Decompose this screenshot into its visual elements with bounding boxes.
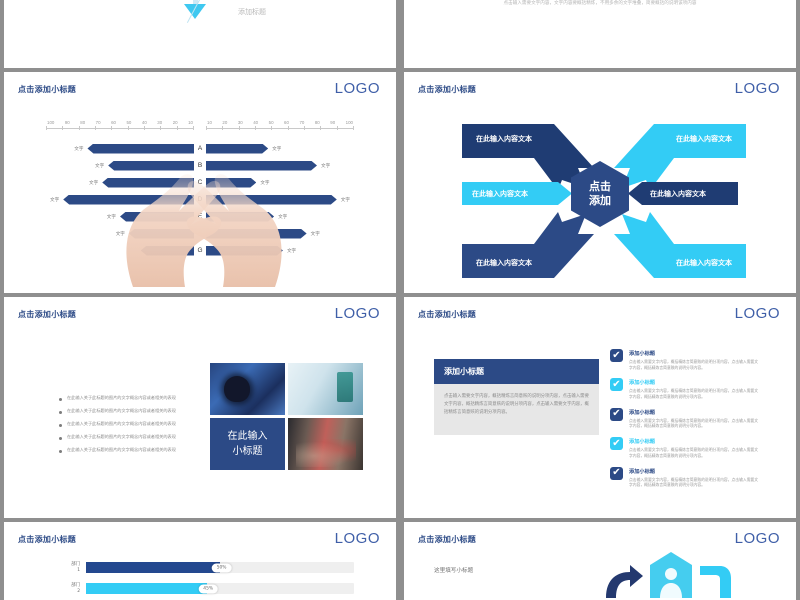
category-label: C	[194, 179, 206, 186]
axis-tick: 20	[222, 120, 227, 125]
checklist-item[interactable]: ✔添加小标题点击输入需要文字内容，概括精炼言简意赅的说明分项内容，点击输入需要文…	[610, 408, 760, 429]
axis-tick: 40	[142, 120, 147, 125]
hexagon-diagram: 在此输入内容文本 在此输入内容文本 在此输入内容文本 在此输入内容文本	[404, 104, 796, 284]
check-icon[interactable]: ✔	[610, 408, 623, 421]
chart-row: 文字F文字	[4, 225, 396, 242]
arrow-bottom-right[interactable]: 在此输入内容文本	[611, 212, 746, 278]
arrow-label: 在此输入内容文本	[476, 134, 532, 144]
bar-label: 文字	[256, 180, 273, 186]
check-icon[interactable]: ✔	[610, 467, 623, 480]
axis-right-ticks: 102030405060708090100	[206, 120, 354, 125]
chart-row: 文字A文字	[4, 140, 396, 157]
bar-left[interactable]	[108, 161, 194, 171]
checklist-item-body: 点击输入需要文字内容，概括精炼言简意赅的说明分项内容，点击输入需要文字内容，概括…	[629, 388, 760, 399]
checklist-item-body: 点击输入需要文字内容，概括精炼言简意赅的说明分项内容，点击输入需要文字内容，概括…	[629, 477, 760, 488]
tornado-chart: 100908070605040302010 102030405060708090…	[4, 112, 396, 282]
page-title: 点击添加小标题	[18, 309, 76, 320]
bar-label: 文字	[274, 214, 291, 220]
category-label: A	[194, 145, 206, 152]
chart-row-right: 文字	[206, 178, 354, 188]
checklist-item-heading: 添加小标题	[629, 350, 760, 357]
list-item: 在此输入关于此标题的图片的文字概念内容或者相关的表现	[59, 421, 199, 427]
crowd-photo[interactable]	[288, 418, 363, 470]
bar-label: 文字	[70, 146, 87, 152]
logo: LOGO	[735, 530, 780, 547]
axis-tick: 60	[111, 120, 116, 125]
axis-tick: 30	[157, 120, 162, 125]
bar-label: 文字	[46, 197, 63, 203]
chart-row-right: 文字	[206, 212, 354, 222]
checklist-item-heading: 添加小标题	[629, 409, 760, 416]
chart-row-right: 文字	[206, 246, 354, 256]
checklist: ✔添加小标题点击输入需要文字内容，概括精炼言简意赅的说明分项内容，点击输入需要文…	[610, 349, 760, 496]
bar-right[interactable]	[206, 229, 307, 239]
bar-left[interactable]	[63, 195, 194, 205]
icon-row	[604, 552, 732, 598]
list-item: 在此输入关于此标题的图片的文字概念内容或者相关的表现	[59, 434, 199, 440]
checklist-item[interactable]: ✔添加小标题点击输入需要文字内容，概括精炼言简意赅的说明分项内容，点击输入需要文…	[610, 378, 760, 399]
chart-row-right: 文字	[206, 195, 354, 205]
arrow-label: 在此输入内容文本	[650, 189, 706, 199]
list-item-text: 在此输入关于此标题的图片的文字概念内容或者相关的表现	[67, 421, 176, 426]
list-item: 在此输入关于此标题的图片的文字概念内容或者相关的表现	[59, 395, 199, 401]
chart-row-left	[46, 246, 194, 256]
bullet-dot-icon	[59, 411, 62, 414]
photo-grid: 在此输入 小标题	[210, 363, 360, 473]
axis-tick: 100	[47, 120, 54, 125]
checklist-item-content: 添加小标题点击输入需要文字内容，概括精炼言简意赅的说明分项内容，点击输入需要文字…	[629, 437, 760, 458]
bar-right[interactable]	[206, 178, 256, 188]
logo: LOGO	[735, 80, 780, 97]
corner-arrow-icon[interactable]	[698, 564, 732, 598]
chart-row-right: 文字	[206, 144, 354, 154]
bar-left[interactable]	[129, 229, 194, 239]
page-title: 点击添加小标题	[418, 534, 476, 545]
progress-track[interactable]: 45%	[86, 583, 354, 594]
slide-subtitle: 添加标题	[238, 7, 266, 17]
chart-row-left: 文字	[46, 144, 194, 154]
bar-left[interactable]	[141, 246, 194, 256]
checklist-item-heading: 添加小标题	[629, 379, 760, 386]
check-icon[interactable]: ✔	[610, 378, 623, 391]
category-label: G	[194, 247, 206, 254]
axis-tick: 90	[330, 120, 335, 125]
bar-left[interactable]	[87, 144, 194, 154]
caption-line-1: 在此输入	[228, 429, 268, 444]
caption-tile[interactable]: 在此输入 小标题	[210, 418, 285, 470]
slide-paragraph: 点击输入需要文字内容，文字内容要概括精炼，不用多余的文字堆叠，简要概括的说明该项…	[450, 0, 750, 8]
bar-right[interactable]	[206, 161, 317, 171]
axis-tick: 100	[346, 120, 353, 125]
hexagon-line-2: 添加	[589, 194, 611, 208]
axis-left: 100908070605040302010	[46, 120, 194, 129]
chart-row: G文字	[4, 242, 396, 259]
arrow-middle-left[interactable]: 在此输入内容文本	[462, 182, 572, 205]
checklist-item-content: 添加小标题点击输入需要文字内容，概括精炼言简意赅的说明分项内容，点击输入需要文字…	[629, 408, 760, 429]
progress-bar-group: 部门150%部门245%	[64, 562, 354, 600]
slide-top-left-partial[interactable]: 添加标题	[4, 0, 396, 68]
checklist-item-body: 点击输入需要文字内容，概括精炼言简意赅的说明分项内容，点击输入需要文字内容，概括…	[629, 447, 760, 458]
list-item-text: 在此输入关于此标题的图片的文字概念内容或者相关的表现	[67, 395, 176, 400]
axis-tick: 70	[299, 120, 304, 125]
bar-label: 文字	[91, 163, 108, 169]
axis-tick: 20	[173, 120, 178, 125]
bar-left[interactable]	[120, 212, 194, 222]
arrow-label: 在此输入内容文本	[472, 189, 528, 199]
axis-tick: 10	[188, 120, 193, 125]
curved-arrow-icon[interactable]	[604, 564, 644, 598]
progress-value-badge: 50%	[212, 563, 232, 572]
axis-tick: 50	[269, 120, 274, 125]
checklist-item-heading: 添加小标题	[629, 438, 760, 445]
bar-right[interactable]	[206, 212, 274, 222]
checklist-item[interactable]: ✔添加小标题点击输入需要文字内容，概括精炼言简意赅的说明分项内容，点击输入需要文…	[610, 437, 760, 458]
bar-label: 文字	[317, 163, 334, 169]
slide-photo-grid[interactable]: 点击添加小标题 LOGO 在此输入关于此标题的图片的文字概念内容或者相关的表现在…	[4, 297, 396, 518]
chart-row-left: 文字	[46, 229, 194, 239]
logo: LOGO	[335, 80, 380, 97]
axis-tick: 30	[238, 120, 243, 125]
chart-row: 文字C文字	[4, 174, 396, 191]
category-label: F	[194, 230, 206, 237]
checklist-item-body: 点击输入需要文字内容，概括精炼言简意赅的说明分项内容，点击输入需要文字内容，概括…	[629, 359, 760, 370]
chart-row: 文字E文字	[4, 208, 396, 225]
bar-label: 文字	[268, 146, 285, 152]
arrow-bottom-left[interactable]: 在此输入内容文本	[462, 212, 597, 278]
bar-label: 文字	[283, 248, 300, 254]
category-label: E	[194, 213, 206, 220]
arrow-label: 在此输入内容文本	[676, 134, 732, 144]
list-item: 在此输入关于此标题的图片的文字概念内容或者相关的表现	[59, 408, 199, 414]
chart-row-left: 文字	[46, 212, 194, 222]
page-title: 点击添加小标题	[418, 84, 476, 95]
caption-line-2: 小标题	[228, 444, 268, 459]
arrow-top-right[interactable]: 在此输入内容文本	[611, 124, 746, 190]
checklist-item-content: 添加小标题点击输入需要文字内容，概括精炼言简意赅的说明分项内容，点击输入需要文字…	[629, 467, 760, 488]
hexagon-line-1: 点击	[589, 180, 611, 194]
axis-tick: 50	[126, 120, 131, 125]
progress-track[interactable]: 50%	[86, 562, 354, 573]
bar-right[interactable]	[206, 195, 337, 205]
chart-row-right: 文字	[206, 161, 354, 171]
slide-hexagon-diagram[interactable]: 点击添加小标题 LOGO 在此输入内容文本 在此输入内容文本 在此输入内容文本	[404, 72, 796, 293]
list-item-text: 在此输入关于此标题的图片的文字概念内容或者相关的表现	[67, 408, 176, 413]
bullet-dot-icon	[59, 424, 62, 427]
checklist-item-content: 添加小标题点击输入需要文字内容，概括精炼言简意赅的说明分项内容，点击输入需要文字…	[629, 378, 760, 399]
bar-right[interactable]	[206, 144, 268, 154]
microphone-photo[interactable]	[210, 363, 285, 415]
slide-icon-row[interactable]: 点击添加小标题 LOGO 这里填写小标题	[404, 522, 796, 600]
bullet-dot-icon	[59, 398, 62, 401]
chart-row: 文字B文字	[4, 157, 396, 174]
progress-row: 部门245%	[64, 583, 354, 594]
bar-left[interactable]	[102, 178, 194, 188]
checklist-item[interactable]: ✔添加小标题点击输入需要文字内容，概括精炼言简意赅的说明分项内容，点击输入需要文…	[610, 467, 760, 488]
list-item: 在此输入关于此标题的图片的文字概念内容或者相关的表现	[59, 447, 199, 453]
axis-left-line	[46, 128, 194, 129]
bar-right[interactable]	[206, 246, 283, 256]
axis-tick: 60	[284, 120, 289, 125]
category-label: D	[194, 196, 206, 203]
axis-tick: 90	[65, 120, 70, 125]
list-item-text: 在此输入关于此标题的图片的文字概念内容或者相关的表现	[67, 434, 176, 439]
bar-label: 文字	[103, 214, 120, 220]
list-item-text: 在此输入关于此标题的图片的文字概念内容或者相关的表现	[67, 447, 176, 452]
checklist-item-heading: 添加小标题	[629, 468, 760, 475]
page-title: 点击添加小标题	[18, 84, 76, 95]
person-shield-icon[interactable]	[650, 552, 692, 598]
checklist-item-content: 添加小标题点击输入需要文字内容，概括精炼言简意赅的说明分项内容，点击输入需要文字…	[629, 349, 760, 370]
logo: LOGO	[335, 530, 380, 547]
chart-row: 文字D文字	[4, 191, 396, 208]
checklist-item-body: 点击输入需要文字内容，概括精炼言简意赅的说明分项内容，点击输入需要文字内容，概括…	[629, 418, 760, 429]
checklist-item[interactable]: ✔添加小标题点击输入需要文字内容，概括精炼言简意赅的说明分项内容，点击输入需要文…	[610, 349, 760, 370]
axis-right-line	[206, 128, 354, 129]
logo: LOGO	[735, 305, 780, 322]
progress-row: 部门150%	[64, 562, 354, 573]
progress-label: 部门1	[64, 562, 80, 573]
axis-tick: 10	[207, 120, 212, 125]
arrow-middle-right[interactable]: 在此输入内容文本	[628, 182, 738, 205]
check-icon[interactable]: ✔	[610, 349, 623, 362]
bar-label: 文字	[337, 197, 354, 203]
bar-label: 文字	[112, 231, 129, 237]
progress-label: 部门2	[64, 583, 80, 594]
progress-value-badge: 45%	[198, 584, 218, 593]
axis-tick: 70	[96, 120, 101, 125]
arrow-label: 在此输入内容文本	[676, 258, 732, 268]
page-title: 点击添加小标题	[18, 534, 76, 545]
arrow-label: 在此输入内容文本	[476, 258, 532, 268]
side-text: 这里填写小标题	[434, 566, 473, 574]
axis-tick: 80	[80, 120, 85, 125]
chart-row-left: 文字	[46, 161, 194, 171]
card-body: 点击输入需要文字内容，概括精炼言简意赅的说明分项内容，点击输入需要文字内容，概括…	[434, 384, 599, 435]
axis-right: 102030405060708090100	[206, 120, 354, 129]
chart-row-left: 文字	[46, 178, 194, 188]
progress-fill	[86, 562, 220, 573]
office-desk-photo[interactable]	[288, 363, 363, 415]
chart-row-left: 文字	[46, 195, 194, 205]
axis-left-ticks: 100908070605040302010	[46, 120, 194, 125]
slide-top-right-partial[interactable]: 点击输入需要文字内容，文字内容要概括精炼，不用多余的文字堆叠，简要概括的说明该项…	[404, 0, 796, 68]
progress-fill	[86, 583, 207, 594]
card-heading: 添加小标题	[434, 359, 599, 384]
page-title: 点击添加小标题	[418, 309, 476, 320]
chart-row-right: 文字	[206, 229, 354, 239]
axis-tick: 80	[315, 120, 320, 125]
bar-label: 文字	[307, 231, 324, 237]
slide-progress-bars[interactable]: 点击添加小标题 LOGO 部门150%部门245%	[4, 522, 396, 600]
axis-tick: 40	[253, 120, 258, 125]
category-label: B	[194, 162, 206, 169]
chart-axes: 100908070605040302010 102030405060708090…	[4, 120, 396, 129]
check-icon[interactable]: ✔	[610, 437, 623, 450]
logo: LOGO	[335, 305, 380, 322]
info-card[interactable]: 添加小标题 点击输入需要文字内容，概括精炼言简意赅的说明分项内容，点击输入需要文…	[434, 359, 599, 435]
bullet-list: 在此输入关于此标题的图片的文字概念内容或者相关的表现在此输入关于此标题的图片的文…	[59, 395, 199, 460]
slide-checklist[interactable]: 点击添加小标题 LOGO 添加小标题 点击输入需要文字内容，概括精炼言简意赅的说…	[404, 297, 796, 518]
tornado-rows: 文字A文字文字B文字文字C文字文字D文字文字E文字文字F文字G文字	[4, 140, 396, 259]
bar-label: 文字	[85, 180, 102, 186]
slide-deck: 添加标题 点击输入需要文字内容，文字内容要概括精炼，不用多余的文字堆叠，简要概括…	[0, 0, 800, 600]
bullet-dot-icon	[59, 450, 62, 453]
slide-tornado-chart[interactable]: 点击添加小标题 LOGO 100908070605040302010 10203…	[4, 72, 396, 293]
bullet-dot-icon	[59, 437, 62, 440]
